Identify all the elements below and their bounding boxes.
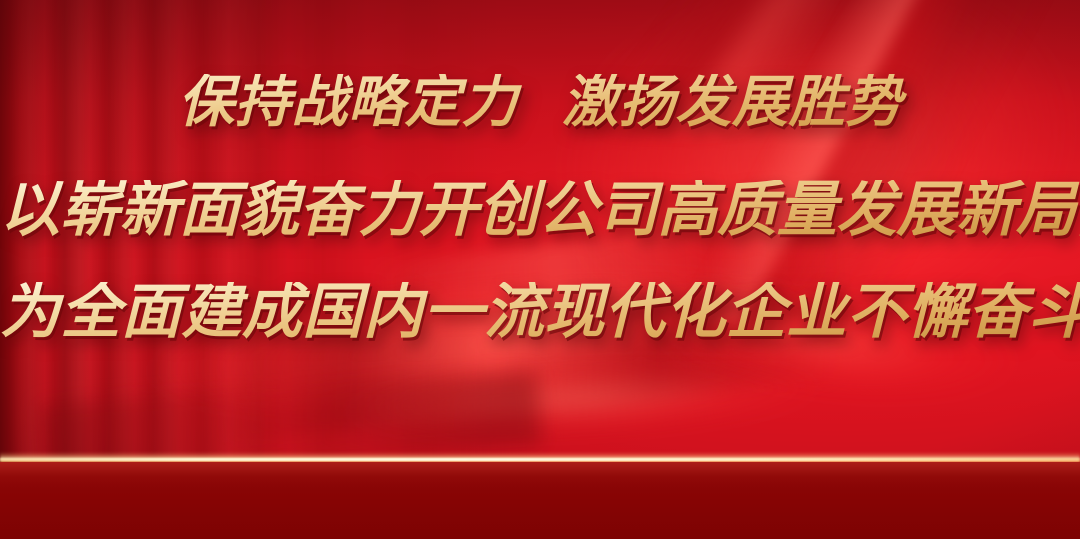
slogan-text-block: 保持战略定力激扬发展胜势 以崭新面貌奋力开创公司高质量发展新局面 为全面建成国内… bbox=[0, 0, 1080, 539]
slogan-line-3: 为全面建成国内一流现代化企业不懈奋斗 bbox=[0, 282, 1080, 342]
slogan-banner: 保持战略定力激扬发展胜势 以崭新面貌奋力开创公司高质量发展新局面 为全面建成国内… bbox=[0, 0, 1080, 539]
slogan-line-1-part-2: 激扬发展胜势 bbox=[562, 69, 902, 135]
slogan-line-1: 保持战略定力激扬发展胜势 bbox=[0, 74, 1080, 130]
slogan-line-2: 以崭新面貌奋力开创公司高质量发展新局面 bbox=[0, 180, 1080, 240]
slogan-line-1-part-1: 保持战略定力 bbox=[178, 69, 518, 135]
